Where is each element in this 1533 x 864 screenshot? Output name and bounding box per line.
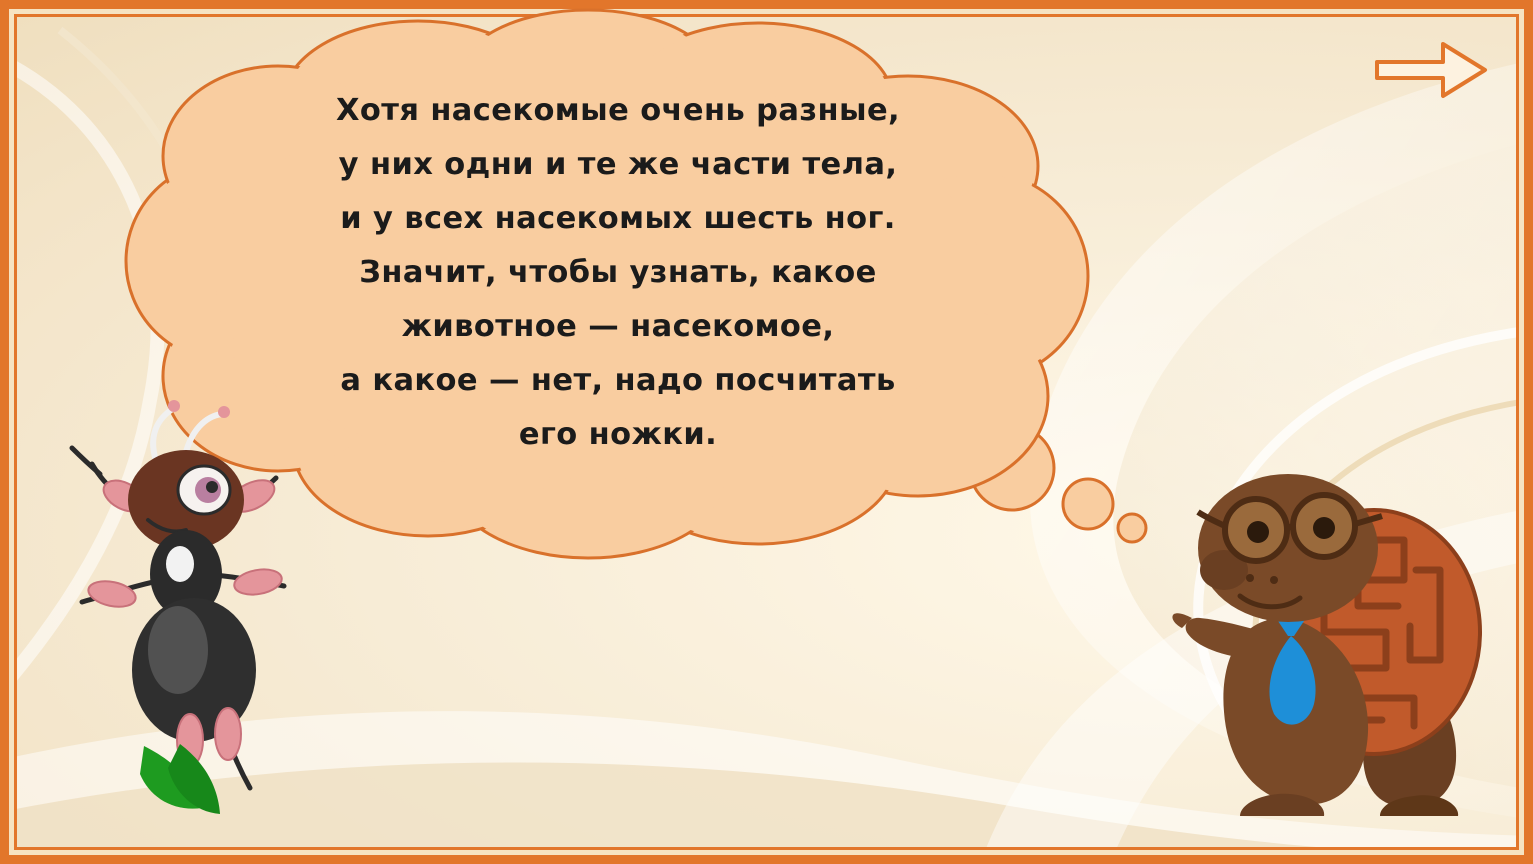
thought-bubble-text: Хотя насекомые очень разные, у них одни … (268, 84, 968, 462)
ant-character (62, 388, 312, 818)
turtle-character (1128, 420, 1518, 820)
next-arrow-icon[interactable] (1373, 38, 1489, 102)
slide-canvas: Хотя насекомые очень разные, у них одни … (0, 0, 1533, 864)
